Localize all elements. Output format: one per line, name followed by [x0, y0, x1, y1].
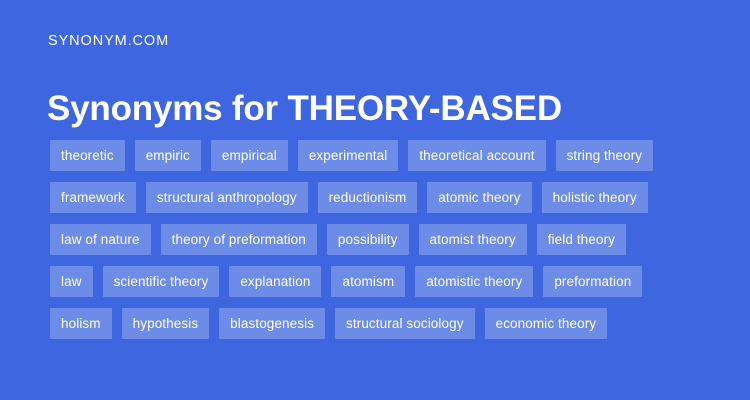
- synonym-tag[interactable]: blastogenesis: [219, 308, 325, 339]
- synonym-tag-list: theoreticempiricempiricalexperimentalthe…: [50, 140, 710, 350]
- synonym-tag[interactable]: structural anthropology: [146, 182, 308, 213]
- synonym-tag[interactable]: law of nature: [50, 224, 151, 255]
- synonym-tag-row: law of naturetheory of preformationpossi…: [50, 224, 710, 255]
- synonym-tag[interactable]: scientific theory: [103, 266, 220, 297]
- synonym-card: SYNONYM.COM Synonyms for THEORY-BASED th…: [0, 0, 750, 400]
- synonym-tag[interactable]: experimental: [298, 140, 399, 171]
- synonym-tag[interactable]: reductionism: [318, 182, 418, 213]
- synonym-tag-row: frameworkstructural anthropologyreductio…: [50, 182, 710, 213]
- synonym-tag[interactable]: theoretical account: [408, 140, 545, 171]
- synonym-tag[interactable]: possibility: [327, 224, 409, 255]
- synonym-tag[interactable]: framework: [50, 182, 136, 213]
- synonym-tag-row: theoreticempiricempiricalexperimentalthe…: [50, 140, 710, 171]
- page-title: Synonyms for THEORY-BASED: [47, 89, 562, 129]
- synonym-tag[interactable]: holism: [50, 308, 112, 339]
- synonym-tag[interactable]: preformation: [543, 266, 642, 297]
- synonym-tag[interactable]: atomism: [331, 266, 405, 297]
- synonym-tag[interactable]: explanation: [229, 266, 321, 297]
- synonym-tag-row: lawscientific theoryexplanationatomismat…: [50, 266, 710, 297]
- synonym-tag[interactable]: atomist theory: [419, 224, 527, 255]
- synonym-tag[interactable]: theoretic: [50, 140, 125, 171]
- synonym-tag[interactable]: empirical: [211, 140, 288, 171]
- synonym-tag[interactable]: law: [50, 266, 93, 297]
- synonym-tag[interactable]: theory of preformation: [161, 224, 317, 255]
- synonym-tag[interactable]: structural sociology: [335, 308, 475, 339]
- synonym-tag[interactable]: field theory: [537, 224, 626, 255]
- synonym-tag[interactable]: economic theory: [485, 308, 608, 339]
- site-brand: SYNONYM.COM: [48, 34, 169, 49]
- synonym-tag[interactable]: string theory: [556, 140, 654, 171]
- synonym-tag[interactable]: atomic theory: [427, 182, 531, 213]
- synonym-tag[interactable]: hypothesis: [122, 308, 210, 339]
- synonym-tag[interactable]: atomistic theory: [415, 266, 533, 297]
- synonym-tag[interactable]: holistic theory: [542, 182, 648, 213]
- synonym-tag-row: holismhypothesisblastogenesisstructural …: [50, 308, 710, 339]
- synonym-tag[interactable]: empiric: [135, 140, 201, 171]
